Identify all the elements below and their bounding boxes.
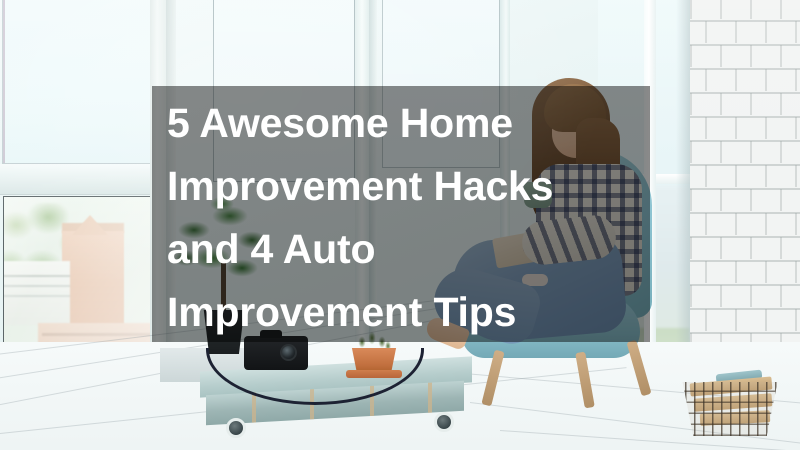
brick-mortar-line bbox=[690, 188, 800, 190]
brick-mortar-line bbox=[690, 93, 692, 115]
brick-mortar-line bbox=[720, 189, 722, 211]
window-left-transom bbox=[0, 164, 152, 195]
pot-saucer bbox=[346, 370, 402, 378]
table-slat bbox=[252, 392, 256, 422]
brick-mortar-line bbox=[690, 189, 692, 211]
city-building-b bbox=[3, 261, 70, 325]
brick-mortar-line bbox=[720, 141, 722, 163]
wall-edge-shadow bbox=[676, 0, 690, 396]
brick-mortar-line bbox=[795, 69, 797, 91]
brick-mortar-line bbox=[765, 69, 767, 91]
brick-mortar-line bbox=[735, 21, 737, 43]
brick-mortar-line bbox=[750, 45, 752, 67]
brick-mortar-line bbox=[720, 0, 722, 19]
pot bbox=[350, 348, 398, 372]
brick-mortar-line bbox=[690, 236, 800, 238]
brick-mortar-line bbox=[765, 21, 767, 43]
brick-mortar-line bbox=[765, 261, 767, 283]
brick-mortar-line bbox=[705, 213, 707, 235]
brick-mortar-line bbox=[735, 309, 737, 331]
brick-mortar-line bbox=[780, 141, 782, 163]
brick-mortar-line bbox=[735, 165, 737, 187]
table-caster bbox=[226, 418, 246, 438]
brick-mortar-line bbox=[795, 21, 797, 43]
brick-mortar-line bbox=[720, 237, 722, 259]
brick-mortar-line bbox=[690, 44, 800, 46]
headline-overlay-block: 5 Awesome Home Improvement Hacks and 4 A… bbox=[152, 86, 650, 342]
brick-mortar-line bbox=[780, 285, 782, 307]
brick-mortar-line bbox=[720, 45, 722, 67]
brick-mortar-line bbox=[795, 213, 797, 235]
brick-mortar-line bbox=[690, 332, 800, 334]
brick-mortar-line bbox=[795, 117, 797, 139]
brick-mortar-line bbox=[705, 261, 707, 283]
brick-mortar-line bbox=[795, 165, 797, 187]
brick-mortar-line bbox=[750, 141, 752, 163]
brick-mortar-line bbox=[705, 165, 707, 187]
brick-mortar-line bbox=[705, 21, 707, 43]
brick-mortar-line bbox=[720, 93, 722, 115]
camera-lens bbox=[280, 344, 297, 361]
terracotta-cactus-pot bbox=[346, 344, 402, 378]
brick-mortar-line bbox=[690, 141, 692, 163]
brick-mortar-line bbox=[750, 0, 752, 19]
brick-mortar-line bbox=[795, 309, 797, 331]
brick-mortar-line bbox=[750, 237, 752, 259]
brick-mortar-line bbox=[690, 237, 692, 259]
brick-mortar-line bbox=[765, 213, 767, 235]
brick-mortar-line bbox=[690, 0, 692, 19]
page-title: 5 Awesome Home Improvement Hacks and 4 A… bbox=[167, 92, 650, 344]
wire-basket bbox=[676, 382, 784, 436]
brick-mortar-line bbox=[735, 213, 737, 235]
brick-mortar-line bbox=[735, 117, 737, 139]
brick-mortar-line bbox=[795, 261, 797, 283]
brick-mortar-line bbox=[765, 309, 767, 331]
brick-mortar-line bbox=[780, 237, 782, 259]
brick-mortar-line bbox=[690, 140, 800, 142]
table-caster bbox=[434, 412, 454, 432]
brick-mortar-line bbox=[690, 285, 692, 307]
brick-mortar-line bbox=[780, 45, 782, 67]
brick-mortar-line bbox=[765, 165, 767, 187]
brick-mortar-line bbox=[735, 261, 737, 283]
brick-mortar-line bbox=[705, 309, 707, 331]
promo-banner: 5 Awesome Home Improvement Hacks and 4 A… bbox=[0, 0, 800, 450]
white-brick-wall bbox=[690, 0, 800, 396]
brick-mortar-line bbox=[780, 0, 782, 19]
wire-basket-with-wood bbox=[676, 372, 784, 438]
brick-mortar-line bbox=[720, 285, 722, 307]
brick-mortar-line bbox=[690, 284, 800, 286]
brick-mortar-line bbox=[705, 117, 707, 139]
table-slat bbox=[428, 383, 432, 413]
brick-mortar-line bbox=[690, 92, 800, 94]
brick-mortar-line bbox=[780, 93, 782, 115]
brick-mortar-line bbox=[705, 69, 707, 91]
brick-mortar-line bbox=[765, 117, 767, 139]
brick-mortar-line bbox=[750, 189, 752, 211]
brick-mortar-line bbox=[750, 93, 752, 115]
window-left-upper-sash bbox=[2, 0, 152, 164]
brick-mortar-line bbox=[780, 189, 782, 211]
brick-mortar-line bbox=[735, 69, 737, 91]
brick-mortar-line bbox=[750, 285, 752, 307]
brick-mortar-line bbox=[690, 45, 692, 67]
